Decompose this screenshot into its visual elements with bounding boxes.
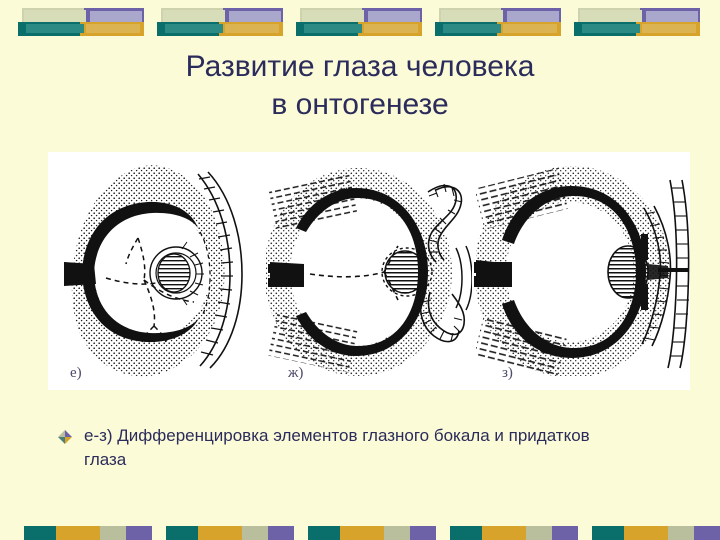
figure-label-e: е) — [70, 365, 82, 382]
eye-development-diagram-zh — [260, 152, 472, 390]
eye-development-diagram-e — [48, 152, 260, 390]
bottom-bar-segment — [24, 526, 152, 540]
figure-panel: е) — [48, 152, 690, 390]
slide-title-line-1: Развитие глаза человека — [40, 48, 680, 86]
bullet-item-text: е-з) Дифференцировка элементов глазного … — [84, 424, 624, 472]
top-bar-segment — [574, 8, 702, 36]
bottom-bar-segment — [450, 526, 578, 540]
bottom-decorative-bar — [0, 514, 720, 540]
diamond-pinwheel-bullet-icon — [58, 430, 72, 444]
top-bar-segment — [296, 8, 424, 36]
bottom-bar-segment — [166, 526, 294, 540]
bottom-bar-segment — [308, 526, 436, 540]
eye-development-diagram-z — [472, 152, 690, 390]
top-bar-segment — [435, 8, 563, 36]
top-bar-segment — [157, 8, 285, 36]
top-bar-segment — [18, 8, 146, 36]
slide-title: Развитие глаза человека в онтогенезе — [40, 48, 680, 124]
bullet-list: е-з) Дифференцировка элементов глазного … — [58, 424, 658, 472]
slide-title-line-2: в онтогенезе — [40, 86, 680, 124]
bottom-bar-segment — [592, 526, 720, 540]
figure-label-z: з) — [502, 365, 513, 382]
top-decorative-bar — [0, 0, 720, 46]
figure-panel-e: е) — [48, 152, 260, 390]
figure-label-zh: ж) — [288, 365, 303, 382]
figure-panel-zh: ж) — [260, 152, 472, 390]
figure-panel-z: з) — [472, 152, 690, 390]
